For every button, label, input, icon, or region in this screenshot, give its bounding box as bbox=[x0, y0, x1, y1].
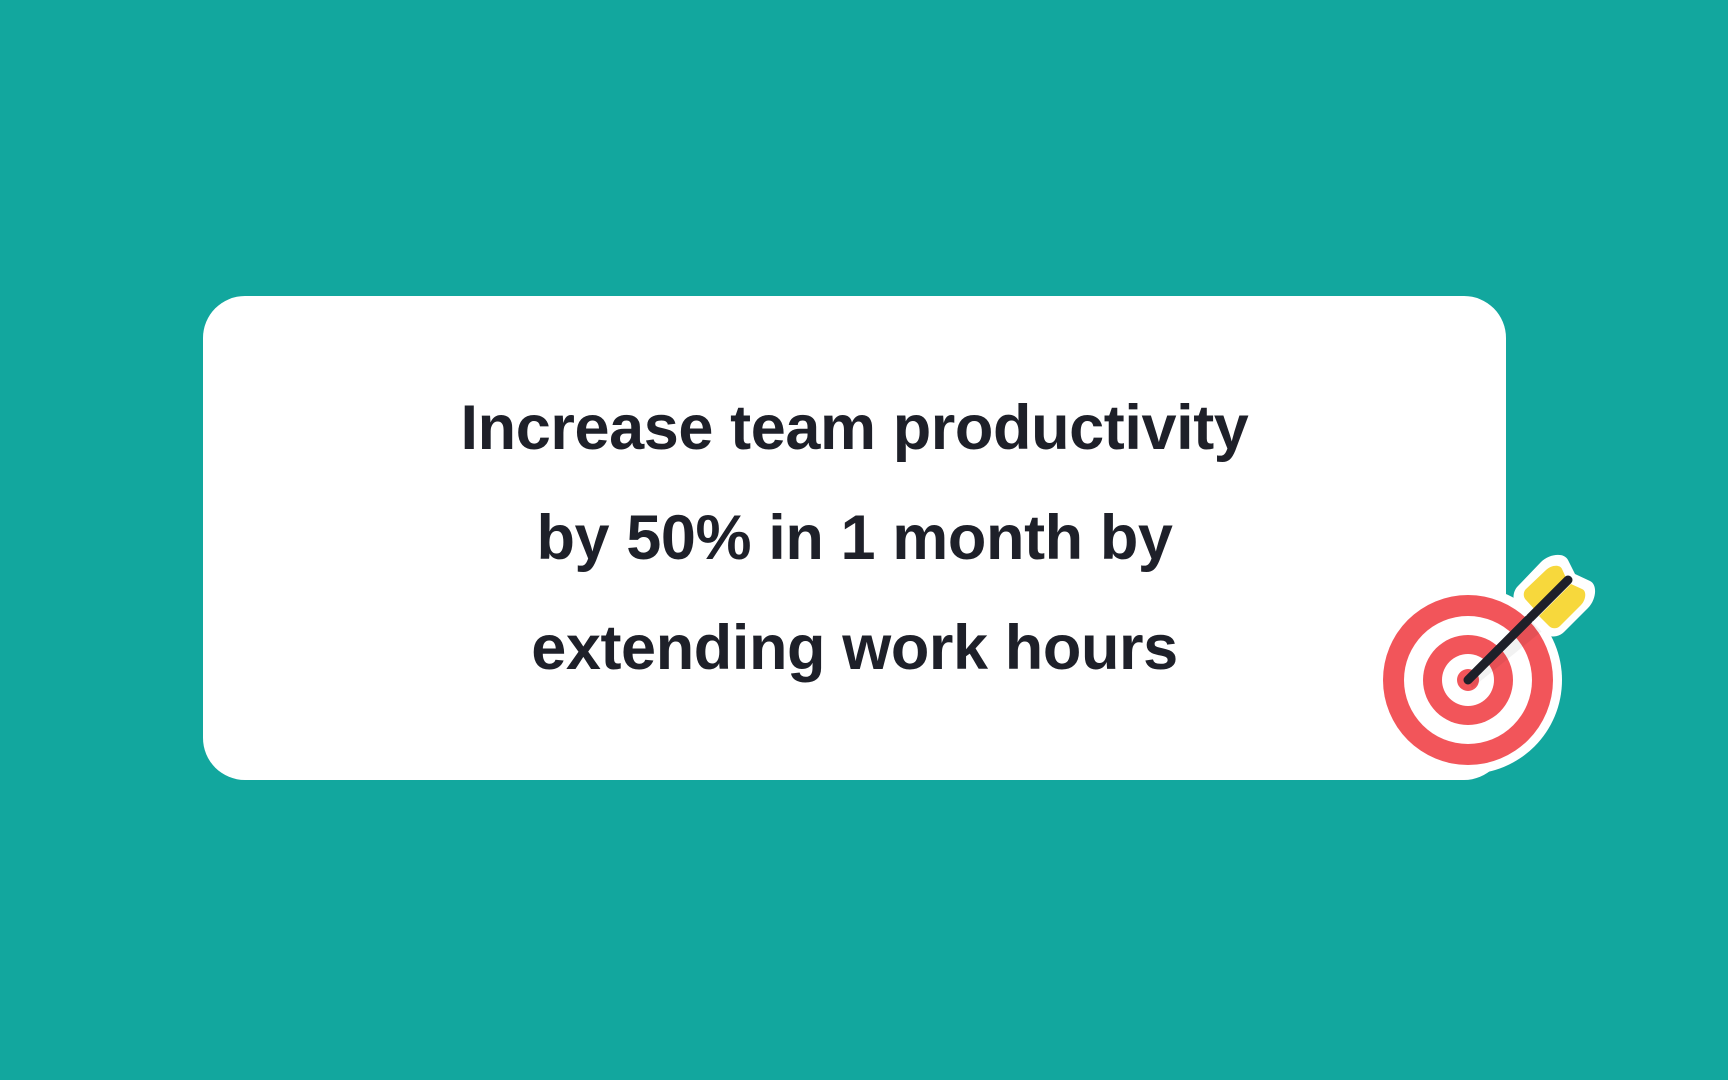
goal-text-line-2: by 50% in 1 month by bbox=[536, 483, 1172, 593]
goal-text-line-1: Increase team productivity bbox=[461, 373, 1249, 483]
goal-text-block: Increase team productivity by 50% in 1 m… bbox=[203, 296, 1506, 780]
goal-text-line-3: extending work hours bbox=[531, 593, 1178, 703]
goal-card: Increase team productivity by 50% in 1 m… bbox=[203, 296, 1506, 780]
dart-target-icon bbox=[1368, 548, 1600, 780]
canvas: Increase team productivity by 50% in 1 m… bbox=[0, 0, 1728, 1080]
